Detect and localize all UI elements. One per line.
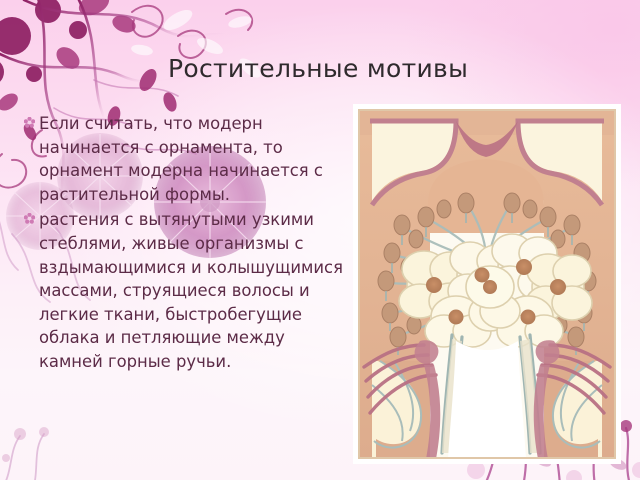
body-text-column: Если считать, что модерн начинается с ор… [24, 112, 346, 376]
page-title: Ростительные мотивы [168, 54, 608, 84]
flower-bullet-icon [24, 213, 35, 224]
art-nouveau-poppy-panel [358, 109, 616, 459]
paragraph-text: Если считать, что модерн начинается с ор… [39, 114, 323, 204]
slide-canvas: Ростительные мотивы Если считать, что мо… [0, 0, 640, 480]
bullet-paragraph: Если считать, что модерн начинается с ор… [24, 112, 346, 206]
picture-frame [353, 104, 621, 464]
paragraph-text: растения с вытянутыми узкими стеблями, ж… [39, 210, 343, 371]
flower-bullet-icon [24, 117, 35, 128]
bullet-paragraph: растения с вытянутыми узкими стеблями, ж… [24, 208, 346, 373]
